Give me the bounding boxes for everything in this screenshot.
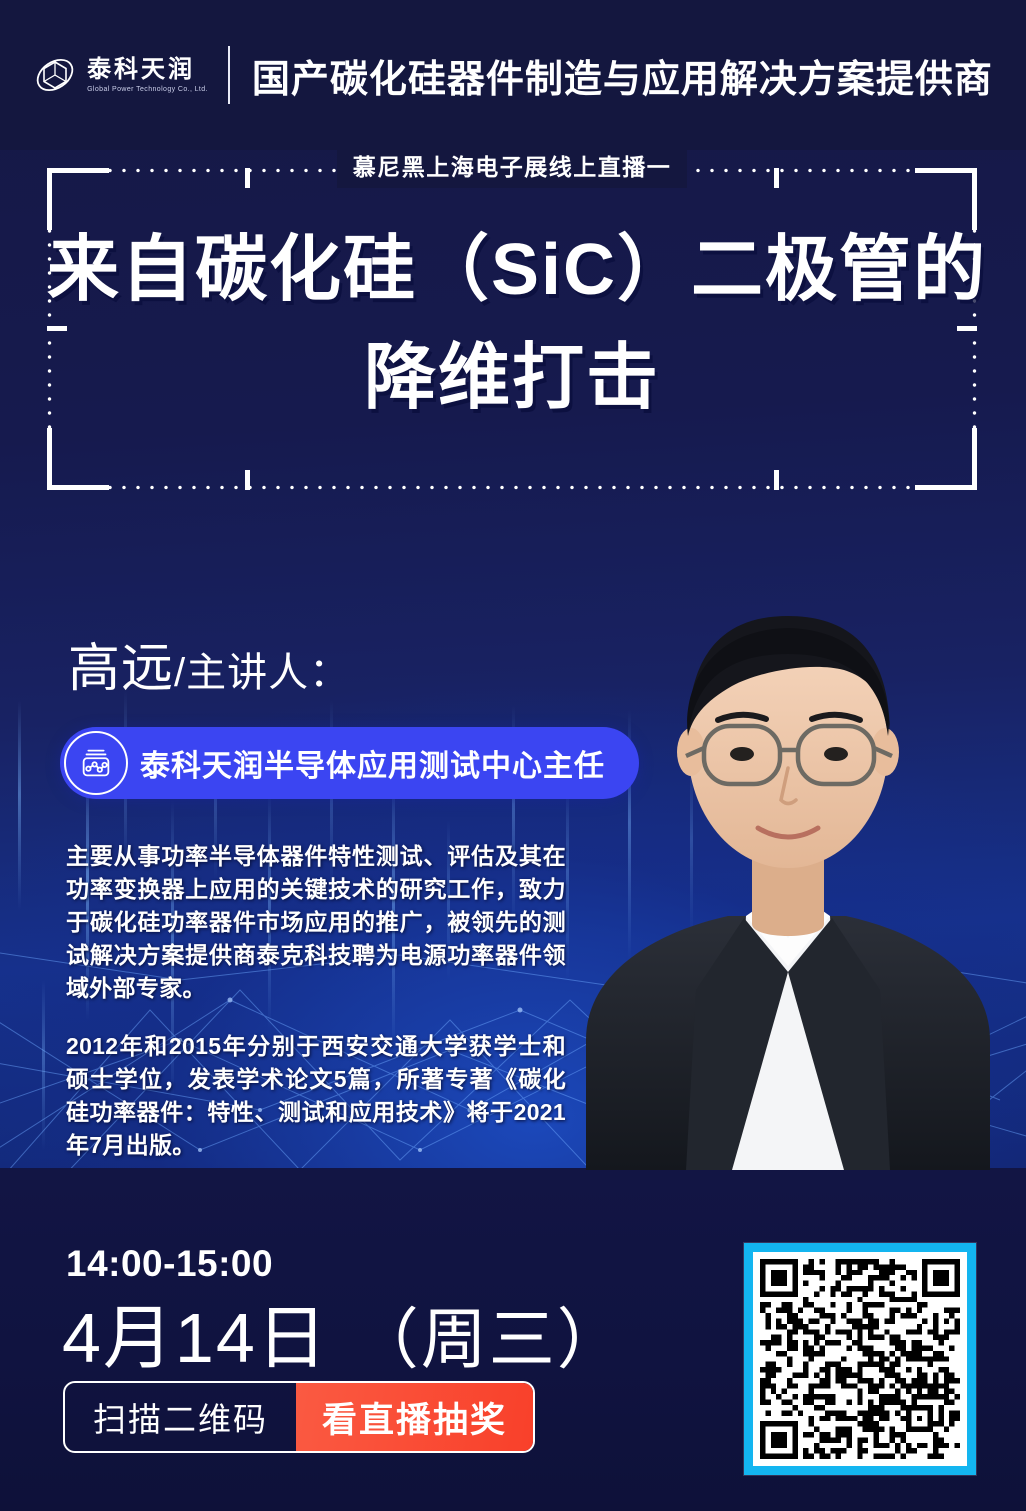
logo-chinese-name: 泰科天润: [87, 58, 208, 82]
bio-paragraph-1: 主要从事功率半导体器件特性测试、评估及其在功率变换器上应用的关键技术的研究工作，…: [66, 840, 566, 1005]
header-slogan: 国产碳化硅器件制造与应用解决方案提供商: [252, 48, 993, 103]
event-subtitle: 慕尼黑上海电子展线上直播一: [337, 146, 688, 188]
brand-logo: 泰科天润 Global Power Technology Co., Ltd.: [33, 53, 208, 97]
bio-paragraph-2: 2012年和2015年分别于西安交通大学获学士和硕士学位，发表学术论文5篇，所著…: [66, 1030, 566, 1162]
speaker-name-row: 高远/主讲人：: [68, 626, 350, 701]
title-frame: 慕尼黑上海电子展线上直播一 来自碳化硅（SiC）二极管的 降维打击: [47, 168, 977, 490]
event-weekday: （周三）: [353, 1286, 625, 1382]
event-date: 4月14日: [62, 1282, 329, 1383]
hero-title: 来自碳化硅（SiC）二极管的 降维打击: [47, 216, 977, 432]
event-time: 14:00-15:00: [66, 1243, 273, 1285]
company-logo-icon: [33, 53, 77, 97]
hero-title-line-1: 来自碳化硅（SiC）二极管的: [47, 216, 977, 324]
watch-live-lottery-button[interactable]: 看直播抽奖: [296, 1383, 533, 1451]
event-date-row: 4月14日 （周三）: [62, 1282, 625, 1383]
speaker-role-label: /主讲人：: [174, 651, 350, 695]
cta-button-group[interactable]: 扫描二维码 看直播抽奖: [63, 1381, 535, 1453]
speaker-title-badge: 泰科天润半导体应用测试中心主任: [60, 727, 639, 799]
speaker-name: 高远: [68, 640, 174, 698]
qr-code-image[interactable]: [760, 1259, 960, 1459]
speaker-title-text: 泰科天润半导体应用测试中心主任: [140, 741, 605, 785]
qr-code-panel[interactable]: [744, 1243, 976, 1475]
header-divider: [228, 46, 230, 104]
page-header: 泰科天润 Global Power Technology Co., Ltd. 国…: [0, 0, 1026, 150]
poster-root: 泰科天润 Global Power Technology Co., Ltd. 国…: [0, 0, 1026, 1511]
scan-qr-button[interactable]: 扫描二维码: [65, 1383, 296, 1451]
logo-english-name: Global Power Technology Co., Ltd.: [87, 86, 208, 93]
hero-title-line-2: 降维打击: [47, 324, 977, 432]
speaker-portrait: [546, 520, 1026, 1170]
analytics-chart-icon: [60, 727, 132, 799]
speaker-bio: 主要从事功率半导体器件特性测试、评估及其在功率变换器上应用的关键技术的研究工作，…: [66, 840, 566, 1162]
